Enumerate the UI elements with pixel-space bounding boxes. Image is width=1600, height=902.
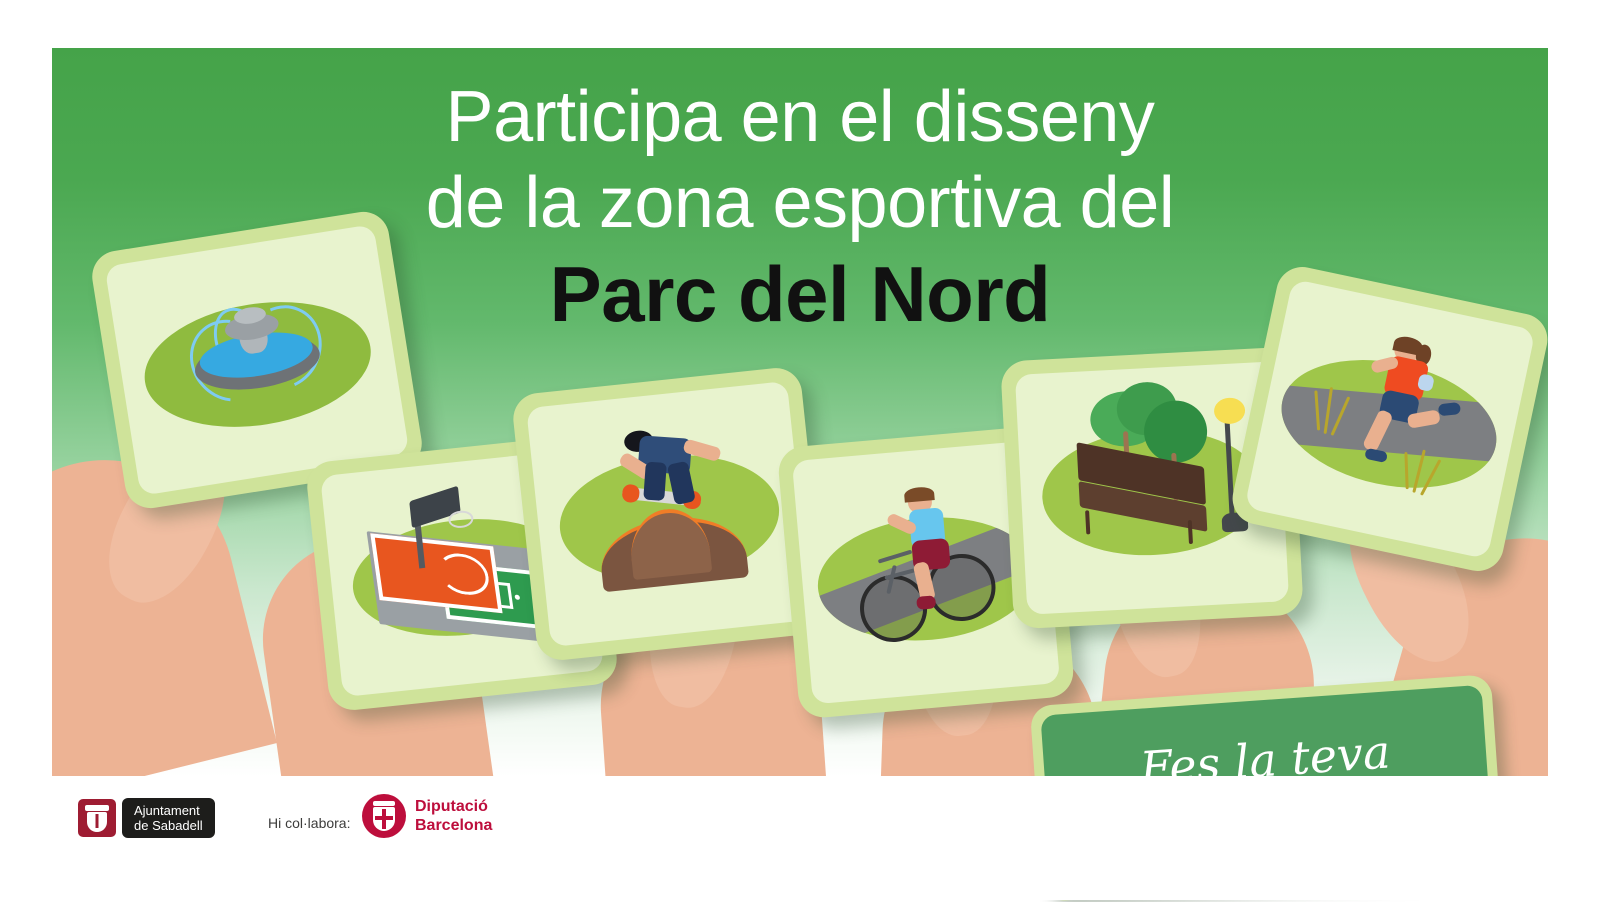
sabadell-line-2: de Sabadell xyxy=(134,818,203,833)
card-skatepark[interactable] xyxy=(511,366,827,663)
skater-leg xyxy=(643,462,667,502)
sabadell-line-1: Ajuntament xyxy=(134,803,203,818)
diputacio-name: Diputació Barcelona xyxy=(415,797,492,835)
cyclist-hair xyxy=(904,486,935,503)
headline-line-1: Participa en el disseny xyxy=(52,74,1548,160)
diputacio-line-1: Diputació xyxy=(415,797,492,816)
diputacio-crest-icon xyxy=(362,794,406,838)
penalty-spot xyxy=(514,594,520,600)
logo-diputacio-barcelona[interactable]: Diputació Barcelona xyxy=(362,794,492,838)
banner-artwork: Participa en el disseny de la zona espor… xyxy=(52,48,1548,776)
sabadell-crest-icon xyxy=(78,799,116,837)
lamp-globe-icon xyxy=(1213,397,1246,425)
shield-cross-horizontal xyxy=(375,816,393,820)
campaign-banner: Participa en el disseny de la zona espor… xyxy=(0,0,1600,900)
runner-shoe xyxy=(1437,402,1460,416)
logo-ajuntament-sabadell[interactable]: Ajuntament de Sabadell xyxy=(78,798,215,838)
three-point-arc xyxy=(435,552,491,598)
cyclist-shoe xyxy=(916,596,937,610)
footer-logos: Ajuntament de Sabadell Hi col·labora: Di… xyxy=(0,776,1600,900)
card-running-circuit[interactable] xyxy=(1228,262,1548,576)
card-illustration-fountain xyxy=(105,224,410,496)
shield-stripe xyxy=(96,814,99,828)
card-illustration-running xyxy=(1244,279,1535,559)
crown-shape xyxy=(85,805,109,811)
crown-shape xyxy=(373,801,395,806)
collaborator-label: Hi col·labora: xyxy=(268,815,350,831)
diputacio-line-2: Barcelona xyxy=(415,816,492,835)
sabadell-name-plate: Ajuntament de Sabadell xyxy=(122,798,215,838)
card-illustration-skatepark xyxy=(526,381,812,647)
